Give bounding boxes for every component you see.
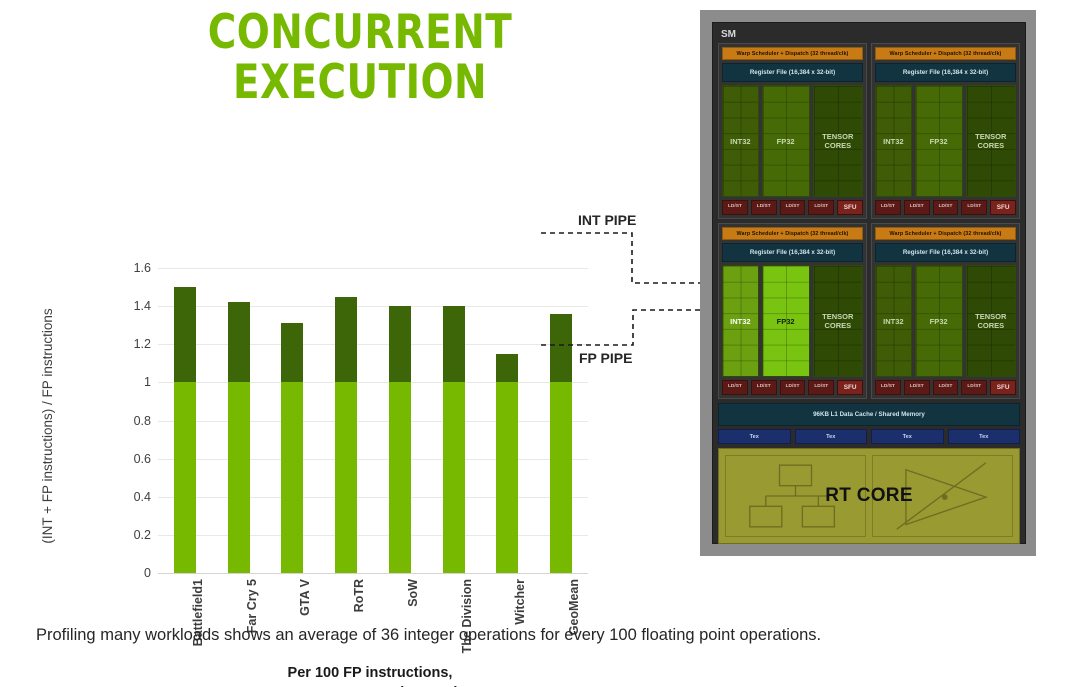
- execution-units-row: INT32FP32TENSORCORES: [722, 85, 863, 197]
- chart-gridline: 0.6: [158, 459, 588, 460]
- ldst-unit: LD/ST: [751, 200, 777, 215]
- tensor-cores-unit: TENSORCORES: [966, 265, 1016, 377]
- tensor-cores-unit: TENSORCORES: [813, 265, 863, 377]
- register-file-bar: Register File (16,384 x 32-bit): [722, 63, 863, 82]
- y-axis-tick-label: 0: [144, 566, 151, 580]
- int32-unit: INT32: [722, 85, 759, 197]
- callout-label-fp-pipe: FP PIPE: [579, 350, 632, 366]
- chart-gridline: 1.4: [158, 306, 588, 307]
- chart-bar: GeoMean: [550, 314, 572, 573]
- chart-bar: SoW: [389, 306, 411, 573]
- ldst-unit: LD/ST: [933, 200, 959, 215]
- sfu-unit: SFU: [990, 380, 1016, 395]
- chart-bar: Far Cry 5: [228, 302, 250, 573]
- bar-segment-int-pipe: [496, 354, 518, 383]
- y-axis-tick-label: 0.4: [134, 490, 151, 504]
- chart-bar: The Division: [443, 306, 465, 573]
- tex-unit: Tex: [871, 429, 944, 444]
- title-line-2: EXECUTION: [84, 58, 636, 108]
- register-file-bar: Register File (16,384 x 32-bit): [722, 243, 863, 262]
- int32-unit: INT32: [875, 85, 912, 197]
- execution-units-row: INT32FP32TENSORCORES: [722, 265, 863, 377]
- ldst-unit: LD/ST: [780, 380, 806, 395]
- bar-segment-fp-pipe: [174, 382, 196, 573]
- chart-bar: Witcher: [496, 354, 518, 573]
- y-axis-tick-label: 1: [144, 375, 151, 389]
- bar-segment-int-pipe: [335, 297, 357, 383]
- warp-scheduler-bar: Warp Scheduler + Dispatch (32 thread/clk…: [722, 47, 863, 60]
- warp-scheduler-bar: Warp Scheduler + Dispatch (32 thread/clk…: [722, 227, 863, 240]
- y-axis-tick-label: 1.6: [134, 261, 151, 275]
- warp-scheduler-bar: Warp Scheduler + Dispatch (32 thread/clk…: [875, 47, 1016, 60]
- sm-diagram: SM Warp Scheduler + Dispatch (32 thread/…: [700, 10, 1036, 556]
- chart-footnote: Per 100 FP instructions, average 36 INT …: [170, 663, 570, 687]
- sfu-unit: SFU: [837, 200, 863, 215]
- tex-unit: Tex: [948, 429, 1021, 444]
- fp32-unit: FP32: [762, 85, 810, 197]
- y-axis-tick-label: 1.2: [134, 337, 151, 351]
- l1-cache-bar: 96KB L1 Data Cache / Shared Memory: [718, 403, 1020, 426]
- chart-plot-area: 1.61.41.210.80.60.40.20Battlefield1Far C…: [158, 268, 588, 573]
- rt-core-block: RT CORE: [718, 448, 1020, 544]
- bar-segment-fp-pipe: [443, 382, 465, 573]
- chart-gridline: 1.2: [158, 344, 588, 345]
- callout-label-int-pipe: INT PIPE: [578, 212, 636, 228]
- ldst-unit: LD/ST: [808, 380, 834, 395]
- ldst-unit: LD/ST: [780, 200, 806, 215]
- tensor-cores-unit: TENSORCORES: [966, 85, 1016, 197]
- ldst-unit: LD/ST: [722, 380, 748, 395]
- ldst-unit: LD/ST: [751, 380, 777, 395]
- sfu-unit: SFU: [990, 200, 1016, 215]
- tex-unit: Tex: [795, 429, 868, 444]
- sm-quadrant-grid: Warp Scheduler + Dispatch (32 thread/clk…: [718, 43, 1020, 399]
- bar-segment-fp-pipe: [550, 382, 572, 573]
- y-axis-tick-label: 0.2: [134, 528, 151, 542]
- warp-scheduler-bar: Warp Scheduler + Dispatch (32 thread/clk…: [875, 227, 1016, 240]
- register-file-bar: Register File (16,384 x 32-bit): [875, 243, 1016, 262]
- bar-segment-fp-pipe: [389, 382, 411, 573]
- slide-caption: Profiling many workloads shows an averag…: [36, 622, 986, 649]
- sm-processing-block: Warp Scheduler + Dispatch (32 thread/clk…: [718, 223, 867, 399]
- bar-segment-int-pipe: [443, 306, 465, 382]
- fp32-unit: FP32: [915, 265, 963, 377]
- sm-processing-block: Warp Scheduler + Dispatch (32 thread/clk…: [718, 43, 867, 219]
- footnote-line-2: average 36 INT PIPE instructions: [170, 683, 570, 687]
- bar-segment-int-pipe: [389, 306, 411, 382]
- ldst-unit: LD/ST: [961, 200, 987, 215]
- chart-gridline: 0.8: [158, 421, 588, 422]
- sm-inner-frame: SM Warp Scheduler + Dispatch (32 thread/…: [712, 22, 1026, 544]
- chart-gridline: 1.6: [158, 268, 588, 269]
- bar-segment-int-pipe: [550, 314, 572, 383]
- tex-unit: Tex: [718, 429, 791, 444]
- ldst-sfu-row: LD/STLD/STLD/STLD/STSFU: [875, 380, 1016, 395]
- bar-chart: (INT + FP instructions) / FP instruction…: [40, 128, 580, 628]
- tensor-cores-unit: TENSORCORES: [813, 85, 863, 197]
- ldst-unit: LD/ST: [722, 200, 748, 215]
- execution-units-row: INT32FP32TENSORCORES: [875, 265, 1016, 377]
- sfu-unit: SFU: [837, 380, 863, 395]
- chart-bar: RoTR: [335, 297, 357, 573]
- y-axis-title: (INT + FP instructions) / FP instruction…: [40, 276, 55, 576]
- fp32-unit: FP32: [915, 85, 963, 197]
- ldst-unit: LD/ST: [904, 200, 930, 215]
- ldst-unit: LD/ST: [875, 200, 901, 215]
- x-axis-tick-label: GTA V: [298, 579, 312, 616]
- ldst-sfu-row: LD/STLD/STLD/STLD/STSFU: [722, 380, 863, 395]
- chart-gridline: 0: [158, 573, 588, 574]
- sm-processing-block: Warp Scheduler + Dispatch (32 thread/clk…: [871, 223, 1020, 399]
- int32-unit: INT32: [722, 265, 759, 377]
- y-axis-tick-label: 1.4: [134, 299, 151, 313]
- bar-segment-int-pipe: [228, 302, 250, 382]
- footnote-line-1: Per 100 FP instructions,: [170, 663, 570, 683]
- ldst-unit: LD/ST: [904, 380, 930, 395]
- slide-root: CONCURRENT EXECUTION (INT + FP instructi…: [0, 0, 1080, 687]
- sm-title: SM: [718, 27, 1020, 43]
- int32-unit: INT32: [875, 265, 912, 377]
- bar-segment-int-pipe: [281, 323, 303, 382]
- ldst-sfu-row: LD/STLD/STLD/STLD/STSFU: [722, 200, 863, 215]
- x-axis-tick-label: RoTR: [352, 579, 366, 612]
- x-axis-tick-label: SoW: [406, 579, 420, 607]
- page-title: CONCURRENT EXECUTION: [84, 8, 636, 108]
- bar-segment-int-pipe: [174, 287, 196, 382]
- bar-segment-fp-pipe: [496, 382, 518, 573]
- y-axis-tick-label: 0.8: [134, 414, 151, 428]
- bar-segment-fp-pipe: [228, 382, 250, 573]
- sm-processing-block: Warp Scheduler + Dispatch (32 thread/clk…: [871, 43, 1020, 219]
- register-file-bar: Register File (16,384 x 32-bit): [875, 63, 1016, 82]
- chart-gridline: 0.4: [158, 497, 588, 498]
- chart-gridline: 1: [158, 382, 588, 383]
- ldst-unit: LD/ST: [808, 200, 834, 215]
- chart-bar: Battlefield1: [174, 287, 196, 573]
- execution-units-row: INT32FP32TENSORCORES: [875, 85, 1016, 197]
- ldst-unit: LD/ST: [875, 380, 901, 395]
- x-axis-tick-label: Witcher: [513, 579, 527, 625]
- ldst-unit: LD/ST: [961, 380, 987, 395]
- bar-segment-fp-pipe: [281, 382, 303, 573]
- chart-gridline: 0.2: [158, 535, 588, 536]
- fp32-unit: FP32: [762, 265, 810, 377]
- title-line-1: CONCURRENT: [84, 8, 636, 58]
- ldst-sfu-row: LD/STLD/STLD/STLD/STSFU: [875, 200, 1016, 215]
- y-axis-tick-label: 0.6: [134, 452, 151, 466]
- bar-segment-fp-pipe: [335, 382, 357, 573]
- chart-bar: GTA V: [281, 323, 303, 573]
- tex-row: Tex Tex Tex Tex: [718, 429, 1020, 444]
- rt-core-label: RT CORE: [719, 485, 1019, 507]
- ldst-unit: LD/ST: [933, 380, 959, 395]
